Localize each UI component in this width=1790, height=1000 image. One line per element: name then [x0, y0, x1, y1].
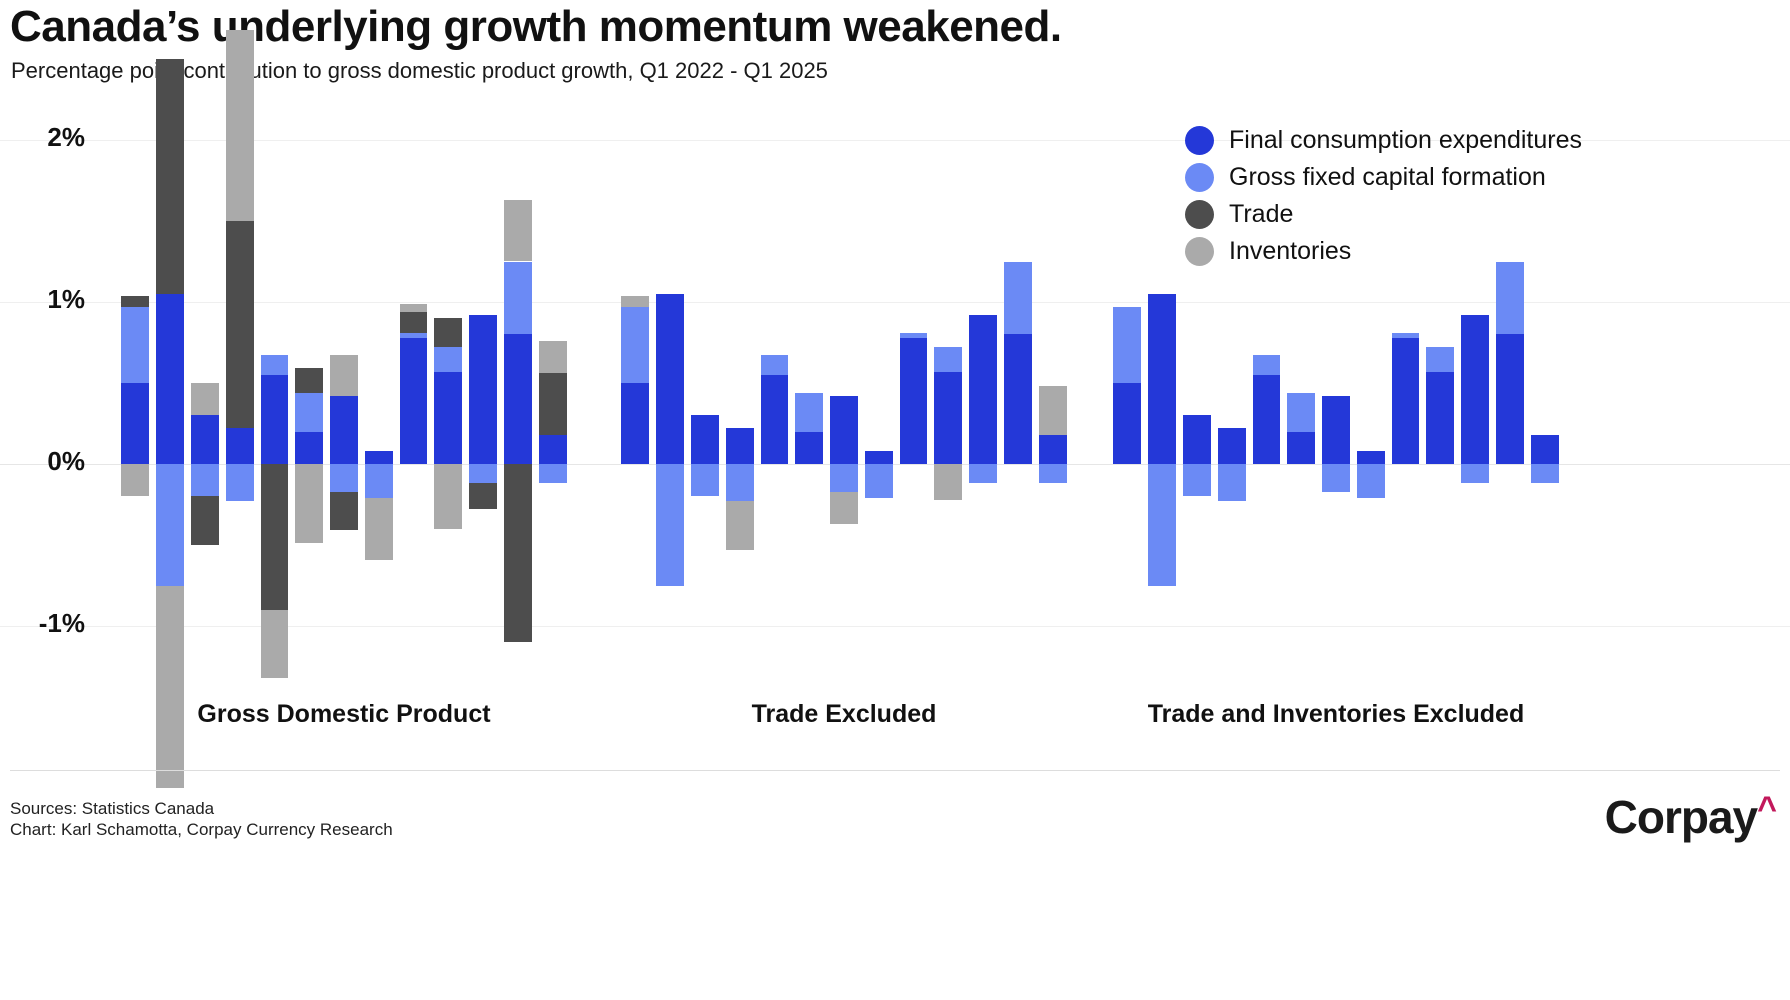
y-axis-tick-label: -1%	[0, 608, 85, 639]
bar-group[interactable]	[1148, 95, 1176, 705]
bar-segment-gross_fixed_capital	[1531, 464, 1559, 483]
bar-segment-gross_fixed_capital	[969, 464, 997, 483]
bar-segment-gross_fixed_capital	[1183, 464, 1211, 496]
bar-segment-gross_fixed_capital	[1357, 464, 1385, 498]
bar-segment-final_consumption	[1183, 415, 1211, 464]
bar-segment-final_consumption	[191, 415, 219, 464]
bar-segment-gross_fixed_capital	[1218, 464, 1246, 501]
bar-segment-gross_fixed_capital	[295, 393, 323, 432]
bar-segment-final_consumption	[1287, 432, 1315, 464]
bar-segment-trade	[469, 483, 497, 509]
bar-group[interactable]	[656, 95, 684, 705]
bar-segment-gross_fixed_capital	[1461, 464, 1489, 483]
bar-segment-final_consumption	[330, 396, 358, 464]
bar-segment-final_consumption	[295, 432, 323, 464]
page-subtitle: Percentage point contribution to gross d…	[11, 58, 828, 84]
bar-group[interactable]	[621, 95, 649, 705]
bar-segment-inventories	[121, 464, 149, 496]
bar-segment-final_consumption	[691, 415, 719, 464]
legend-item-final_consumption[interactable]: Final consumption expenditures	[1185, 122, 1582, 159]
y-axis-tick-label: 0%	[0, 446, 85, 477]
bar-segment-gross_fixed_capital	[1253, 355, 1281, 374]
bar-segment-final_consumption	[795, 432, 823, 464]
bar-segment-inventories	[330, 355, 358, 396]
bar-segment-gross_fixed_capital	[795, 393, 823, 432]
bar-segment-inventories	[934, 464, 962, 500]
bar-segment-final_consumption	[900, 338, 928, 464]
bar-segment-final_consumption	[865, 451, 893, 464]
legend-swatch-icon	[1185, 237, 1214, 266]
page-title: Canada’s underlying growth momentum weak…	[10, 2, 1062, 52]
bar-segment-inventories	[539, 341, 567, 373]
bar-segment-gross_fixed_capital	[621, 307, 649, 383]
bar-segment-final_consumption	[434, 372, 462, 464]
bar-segment-inventories	[726, 501, 754, 550]
bar-segment-trade	[295, 368, 323, 392]
bar-segment-final_consumption	[621, 383, 649, 464]
bar-segment-final_consumption	[726, 428, 754, 464]
bar-segment-gross_fixed_capital	[1496, 262, 1524, 335]
bar-segment-final_consumption	[1496, 334, 1524, 464]
bar-segment-gross_fixed_capital	[691, 464, 719, 496]
bar-group[interactable]	[191, 95, 219, 705]
bar-segment-gross_fixed_capital	[469, 464, 497, 483]
bar-segment-gross_fixed_capital	[726, 464, 754, 501]
bar-group[interactable]	[434, 95, 462, 705]
legend-item-label: Inventories	[1229, 237, 1351, 266]
bar-group[interactable]	[1039, 95, 1067, 705]
legend-item-label: Trade	[1229, 200, 1293, 229]
bar-segment-final_consumption	[1004, 334, 1032, 464]
bar-group[interactable]	[226, 95, 254, 705]
bar-segment-gross_fixed_capital	[656, 464, 684, 586]
bar-segment-gross_fixed_capital	[504, 262, 532, 335]
bar-segment-trade	[330, 492, 358, 531]
bar-segment-inventories	[830, 492, 858, 524]
footer-divider	[10, 770, 1780, 771]
source-line-2: Chart: Karl Schamotta, Corpay Currency R…	[10, 819, 393, 840]
bar-segment-gross_fixed_capital	[900, 333, 928, 338]
bar-group[interactable]	[726, 95, 754, 705]
bar-segment-gross_fixed_capital	[1287, 393, 1315, 432]
bar-segment-inventories	[1039, 386, 1067, 435]
bar-segment-final_consumption	[1253, 375, 1281, 464]
logo-wordmark: Corpay	[1605, 791, 1757, 843]
bar-segment-final_consumption	[365, 451, 393, 464]
bar-group[interactable]	[900, 95, 928, 705]
bar-group[interactable]	[539, 95, 567, 705]
source-note: Sources: Statistics Canada Chart: Karl S…	[10, 798, 393, 841]
bar-segment-gross_fixed_capital	[1392, 333, 1420, 338]
bar-segment-trade	[191, 496, 219, 545]
bar-segment-gross_fixed_capital	[1004, 262, 1032, 335]
bar-segment-gross_fixed_capital	[539, 464, 567, 483]
bar-segment-gross_fixed_capital	[434, 347, 462, 371]
bar-segment-gross_fixed_capital	[1113, 307, 1141, 383]
bar-segment-final_consumption	[400, 338, 428, 464]
bar-group[interactable]	[365, 95, 393, 705]
bar-segment-trade	[156, 59, 184, 294]
bar-segment-inventories	[365, 498, 393, 560]
bar-segment-gross_fixed_capital	[830, 464, 858, 492]
bar-group[interactable]	[934, 95, 962, 705]
bar-segment-final_consumption	[934, 372, 962, 464]
bar-group[interactable]	[504, 95, 532, 705]
bar-segment-gross_fixed_capital	[261, 355, 289, 374]
bar-segment-final_consumption	[1357, 451, 1385, 464]
legend-item-label: Gross fixed capital formation	[1229, 163, 1546, 192]
bar-segment-inventories	[504, 200, 532, 262]
panel-label: Trade Excluded	[618, 700, 1070, 729]
bar-group[interactable]	[156, 95, 184, 705]
bar-segment-gross_fixed_capital	[400, 333, 428, 338]
bar-segment-gross_fixed_capital	[191, 464, 219, 496]
y-axis-tick-label: 1%	[0, 284, 85, 315]
bar-group[interactable]	[400, 95, 428, 705]
bar-group[interactable]	[330, 95, 358, 705]
bar-segment-trade	[504, 464, 532, 642]
bar-segment-final_consumption	[656, 294, 684, 464]
bar-segment-inventories	[400, 304, 428, 312]
bar-segment-final_consumption	[1039, 435, 1067, 464]
bar-segment-trade	[261, 464, 289, 610]
bar-segment-gross_fixed_capital	[330, 464, 358, 492]
chart-panel-0	[118, 95, 570, 705]
bar-segment-trade	[400, 312, 428, 333]
bar-segment-gross_fixed_capital	[934, 347, 962, 371]
bar-group[interactable]	[295, 95, 323, 705]
bar-segment-final_consumption	[156, 294, 184, 464]
legend-swatch-icon	[1185, 126, 1214, 155]
bar-segment-inventories	[226, 30, 254, 221]
bar-segment-trade	[121, 296, 149, 307]
legend-item-trade[interactable]: Trade	[1185, 196, 1582, 233]
bar-segment-gross_fixed_capital	[1039, 464, 1067, 483]
panel-label: Gross Domestic Product	[118, 700, 570, 729]
bar-segment-inventories	[191, 383, 219, 415]
bar-segment-final_consumption	[1426, 372, 1454, 464]
bar-segment-gross_fixed_capital	[226, 464, 254, 501]
bar-segment-final_consumption	[121, 383, 149, 464]
bar-group[interactable]	[795, 95, 823, 705]
bar-segment-gross_fixed_capital	[156, 464, 184, 586]
bar-segment-gross_fixed_capital	[865, 464, 893, 498]
legend-item-label: Final consumption expenditures	[1229, 126, 1582, 155]
bar-group[interactable]	[691, 95, 719, 705]
corpay-logo: Corpay^	[1605, 790, 1776, 844]
bar-segment-final_consumption	[1218, 428, 1246, 464]
legend-swatch-icon	[1185, 200, 1214, 229]
bar-segment-final_consumption	[226, 428, 254, 464]
bar-segment-gross_fixed_capital	[761, 355, 789, 374]
bar-group[interactable]	[865, 95, 893, 705]
bar-segment-trade	[226, 221, 254, 428]
bar-segment-inventories	[261, 610, 289, 678]
bar-group[interactable]	[1004, 95, 1032, 705]
bar-segment-final_consumption	[969, 315, 997, 464]
bar-segment-gross_fixed_capital	[1426, 347, 1454, 371]
bar-segment-gross_fixed_capital	[1322, 464, 1350, 492]
legend-swatch-icon	[1185, 163, 1214, 192]
bar-group[interactable]	[1113, 95, 1141, 705]
bar-segment-final_consumption	[504, 334, 532, 464]
chart-legend: Final consumption expendituresGross fixe…	[1185, 122, 1582, 270]
logo-caret-icon: ^	[1757, 790, 1776, 828]
bar-segment-final_consumption	[830, 396, 858, 464]
bar-segment-trade	[434, 318, 462, 347]
bar-segment-final_consumption	[1322, 396, 1350, 464]
bar-group[interactable]	[121, 95, 149, 705]
bar-segment-trade	[539, 373, 567, 435]
bar-group[interactable]	[761, 95, 789, 705]
bar-group[interactable]	[969, 95, 997, 705]
bar-group[interactable]	[261, 95, 289, 705]
bar-segment-final_consumption	[539, 435, 567, 464]
bar-segment-final_consumption	[1392, 338, 1420, 464]
bar-segment-gross_fixed_capital	[365, 464, 393, 498]
source-line-1: Sources: Statistics Canada	[10, 798, 393, 819]
chart-panel-1	[618, 95, 1070, 705]
bar-segment-final_consumption	[261, 375, 289, 464]
bar-segment-inventories	[621, 296, 649, 307]
bar-segment-inventories	[156, 586, 184, 789]
bar-group[interactable]	[469, 95, 497, 705]
bar-segment-final_consumption	[761, 375, 789, 464]
y-axis-tick-label: 2%	[0, 122, 85, 153]
bar-segment-final_consumption	[469, 315, 497, 464]
bar-segment-final_consumption	[1531, 435, 1559, 464]
legend-item-gross_fixed_capital[interactable]: Gross fixed capital formation	[1185, 159, 1582, 196]
bar-segment-final_consumption	[1461, 315, 1489, 464]
bar-segment-gross_fixed_capital	[1148, 464, 1176, 586]
bar-segment-final_consumption	[1113, 383, 1141, 464]
bar-group[interactable]	[830, 95, 858, 705]
bar-segment-inventories	[434, 464, 462, 529]
legend-item-inventories[interactable]: Inventories	[1185, 233, 1582, 270]
bar-segment-gross_fixed_capital	[121, 307, 149, 383]
panel-label: Trade and Inventories Excluded	[1110, 700, 1562, 729]
bar-segment-final_consumption	[1148, 294, 1176, 464]
bar-segment-inventories	[295, 464, 323, 543]
